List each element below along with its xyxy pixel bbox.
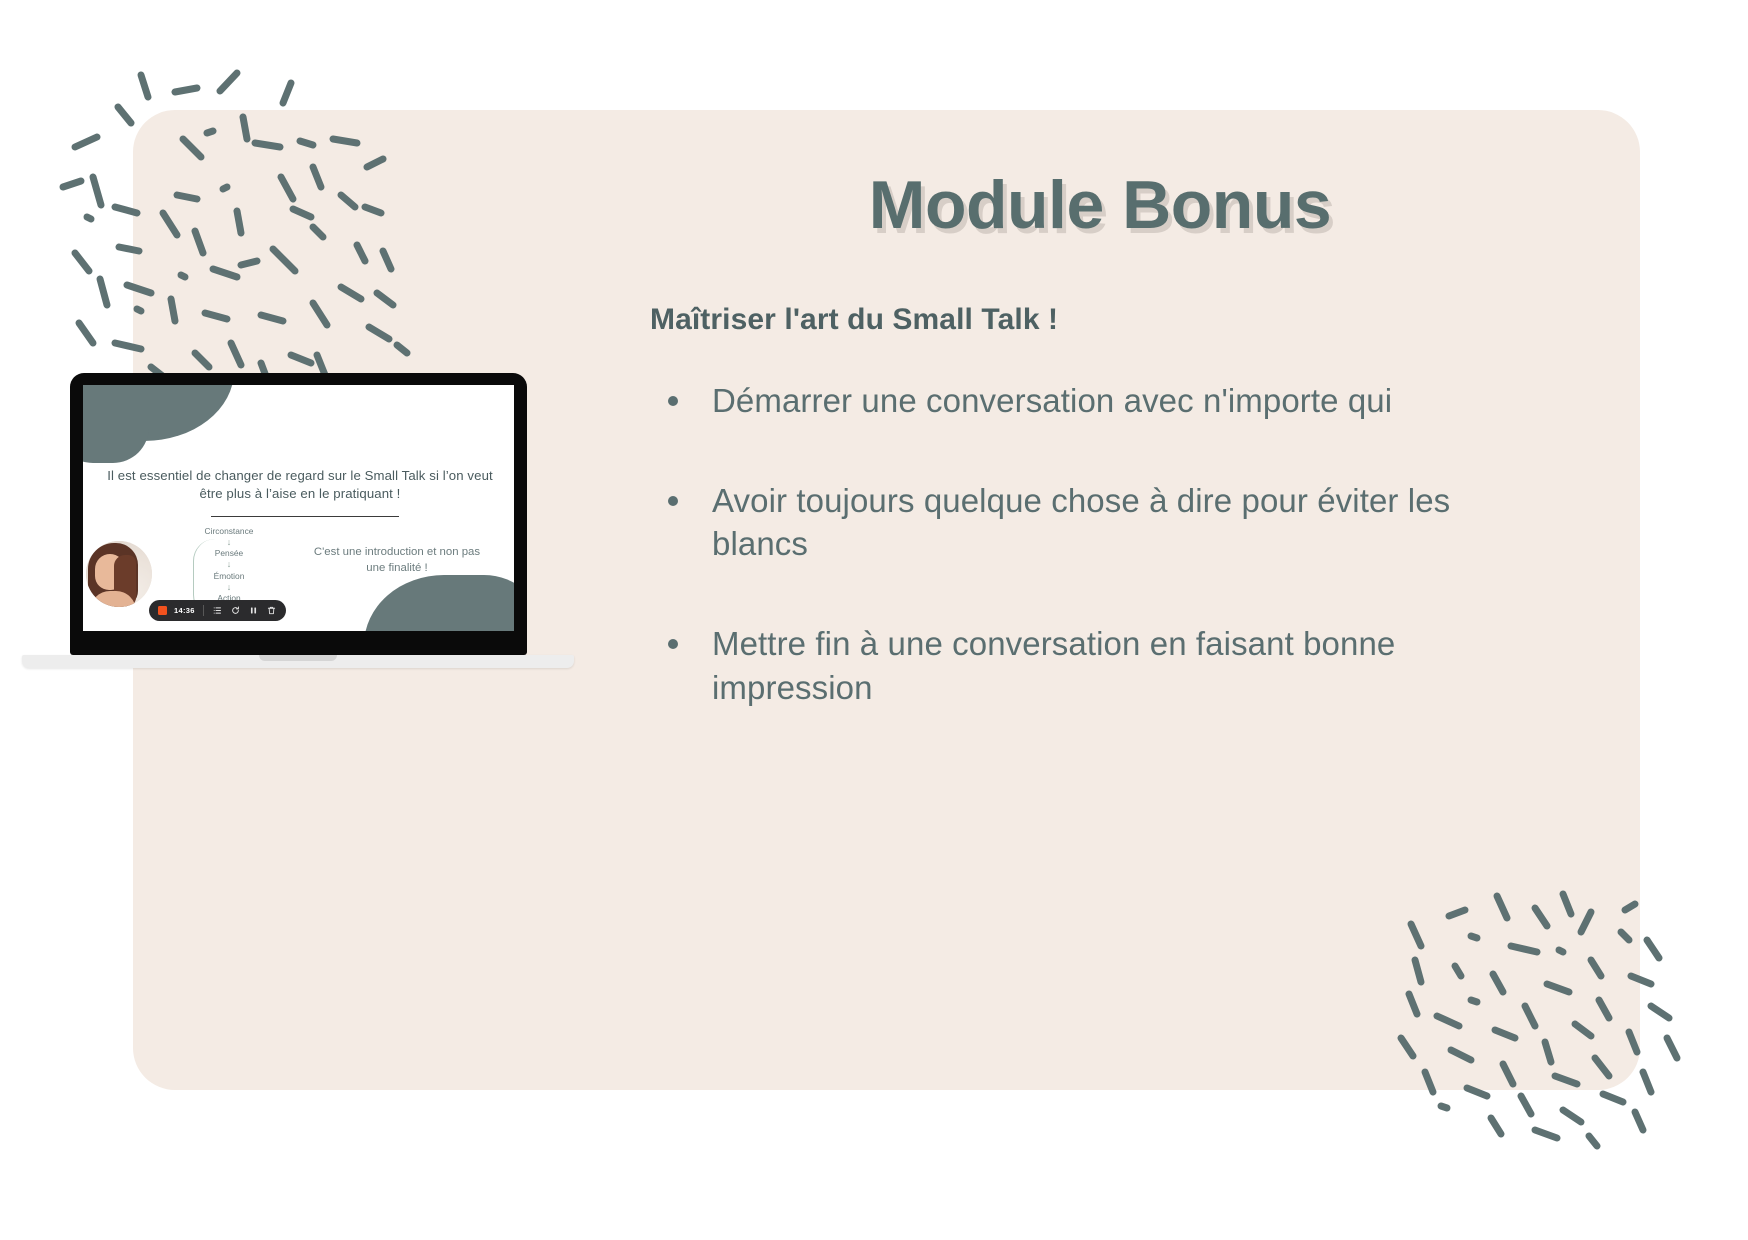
list-item: Démarrer une conversation avec n'importe… [640, 379, 1530, 423]
list-item: Avoir toujours quelque chose à dire pour… [640, 479, 1530, 566]
divider [211, 516, 399, 517]
down-arrow-icon: ↓ [165, 583, 293, 592]
webcam-overlay [86, 541, 152, 607]
list-icon[interactable] [212, 605, 223, 616]
list-item: Mettre fin à une conversation en faisant… [640, 622, 1530, 709]
laptop-lid: Il est essentiel de changer de regard su… [70, 373, 527, 655]
video-slide-note: C'est une introduction et non pas une fi… [307, 545, 487, 577]
restart-icon[interactable] [230, 605, 241, 616]
decorative-blob-top-left [83, 385, 234, 441]
flow-step: Émotion [165, 572, 293, 580]
down-arrow-icon: ↓ [165, 538, 293, 547]
laptop-screen: Il est essentiel de changer de regard su… [83, 385, 514, 631]
text-column: Module Bonus Maîtriser l'art du Small Ta… [640, 170, 1530, 709]
recording-timer: 14:36 [174, 606, 195, 615]
benefits-list: Démarrer une conversation avec n'importe… [640, 379, 1530, 709]
laptop-mockup: Il est essentiel de changer de regard su… [22, 373, 574, 695]
page-title: Module Bonus [670, 170, 1530, 241]
subtitle: Maîtriser l'art du Small Talk ! [650, 303, 1530, 337]
flow-step: Circonstance [165, 527, 293, 535]
toolbar-divider [203, 605, 204, 616]
laptop-notch [259, 655, 337, 661]
trash-icon[interactable] [266, 605, 277, 616]
down-arrow-icon: ↓ [165, 560, 293, 569]
decorative-blob-bottom-right [364, 575, 514, 631]
stop-recording-icon[interactable] [158, 606, 167, 615]
recording-toolbar[interactable]: 14:36 [149, 600, 286, 621]
pause-icon[interactable] [248, 605, 259, 616]
flow-step: Pensée [165, 549, 293, 557]
slide-canvas: Module Bonus Maîtriser l'art du Small Ta… [0, 0, 1748, 1240]
video-slide-headline: Il est essentiel de changer de regard su… [105, 467, 495, 503]
